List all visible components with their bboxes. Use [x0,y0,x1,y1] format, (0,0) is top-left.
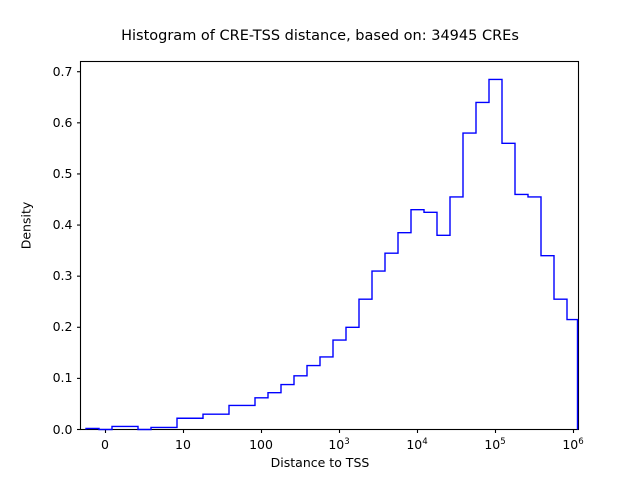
axes-frame [81,62,579,430]
y-tick-label: 0.2 [33,319,73,334]
x-tick-label: 10 [153,437,213,452]
x-tick-label: 100 [231,437,291,452]
x-tick-label: 103 [309,437,369,452]
y-tick-label: 0.0 [33,422,73,437]
y-tick-label: 0.7 [33,64,73,79]
figure-canvas: Histogram of CRE-TSS distance, based on:… [0,0,640,480]
y-tick-label: 0.4 [33,217,73,232]
histogram-series [86,79,578,429]
histogram-step-line [86,79,578,429]
x-tick-label: 105 [465,437,525,452]
x-tick-label: 104 [387,437,447,452]
y-tick-label: 0.1 [33,370,73,385]
y-tick-label: 0.3 [33,268,73,283]
y-tick-label: 0.6 [33,115,73,130]
x-tick-label: 0 [75,437,135,452]
plot-area [0,0,640,480]
x-tick-label: 106 [543,437,603,452]
y-tick-label: 0.5 [33,166,73,181]
